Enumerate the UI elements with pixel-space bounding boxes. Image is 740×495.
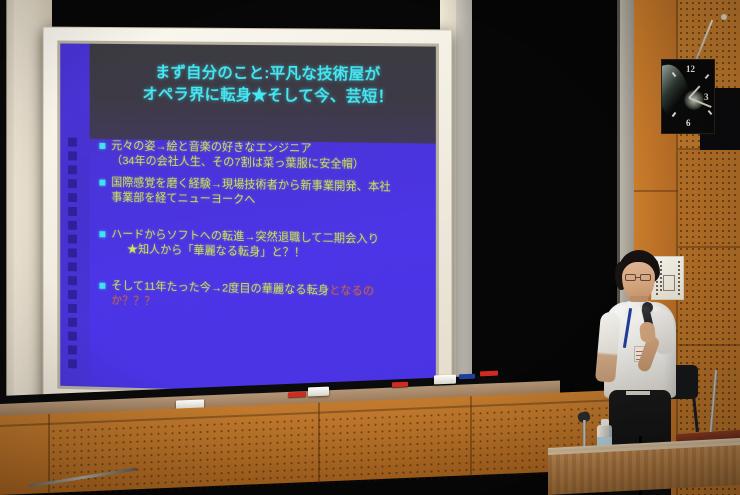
slide-content: まず自分のこと:平凡な技術屋が オペラ界に転身★そして今、芸短！ 元々の姿→絵と… — [90, 44, 436, 397]
clock-numeral-12: 12 — [686, 64, 695, 74]
wall-seam — [634, 190, 678, 192]
glasses-right-lens — [640, 274, 651, 281]
bullet-square-icon — [99, 283, 105, 289]
rod-tip — [721, 14, 727, 20]
tray-marker-red — [392, 382, 408, 388]
glasses-bridge — [636, 277, 640, 278]
slide-title: まず自分のこと:平凡な技術屋が オペラ界に転身★そして今、芸短！ — [103, 62, 433, 110]
lecture-hall-photo: 12 3 6 まず自分のこと:平凡な技術屋が オペラ界に転身★そして今、芸短！ — [0, 0, 740, 495]
slide-bullet-list: 元々の姿→絵と音楽の好きなエンジニア （34年の会社人生、その7割は菜っ葉服に安… — [97, 139, 435, 324]
wall-seam — [678, 246, 740, 248]
slide-title-line-2: オペラ界に転身★そして今、芸短！ — [103, 84, 433, 110]
slide-sidebar-decoration — [68, 138, 79, 386]
wall-seam — [470, 396, 472, 476]
clock-tick — [708, 110, 713, 115]
projection-screen: まず自分のこと:平凡な技術屋が オペラ界に転身★そして今、芸短！ 元々の姿→絵と… — [43, 27, 452, 417]
tray-eraser — [434, 375, 456, 385]
slide-block-4: そして11年たった今→2度目の華麗なる転身となるの か？？？ — [97, 279, 435, 317]
glasses-left-lens — [625, 274, 636, 281]
clock-numeral-6: 6 — [686, 118, 691, 128]
bullet-square-icon — [99, 231, 105, 237]
presentation-slide: まず自分のこと:平凡な技術屋が オペラ界に転身★そして今、芸短！ 元々の姿→絵と… — [60, 43, 436, 396]
slide-block-1: 元々の姿→絵と音楽の好きなエンジニア （34年の会社人生、その7割は菜っ葉服に安… — [97, 139, 435, 174]
slide-block-2: 国際感覚を磨く経験→現場技術者から新事業開発、本社 事業部を経てニューヨークへ — [97, 176, 435, 212]
tray-marker-red — [480, 371, 498, 377]
pillar-gray — [456, 0, 472, 398]
hand-holding-microphone — [639, 321, 656, 342]
clock-tick — [705, 74, 710, 79]
belt — [626, 391, 650, 395]
tray-marker-blue — [459, 374, 475, 380]
tray-eraser — [308, 387, 329, 397]
slide-block-3: ハードからソフトへの転進→突然退職して二期会入り ★知人から「華麗なる転身」と？… — [97, 227, 435, 264]
clock-numeral-3: 3 — [704, 92, 709, 102]
bullet-text-faded: となるの — [329, 285, 374, 298]
bullet-square-icon — [99, 180, 105, 186]
bullet-square-icon — [99, 143, 105, 149]
wall-seam — [318, 403, 320, 483]
tray-marker-red — [288, 392, 306, 398]
wall-clock: 12 3 6 — [661, 59, 715, 134]
